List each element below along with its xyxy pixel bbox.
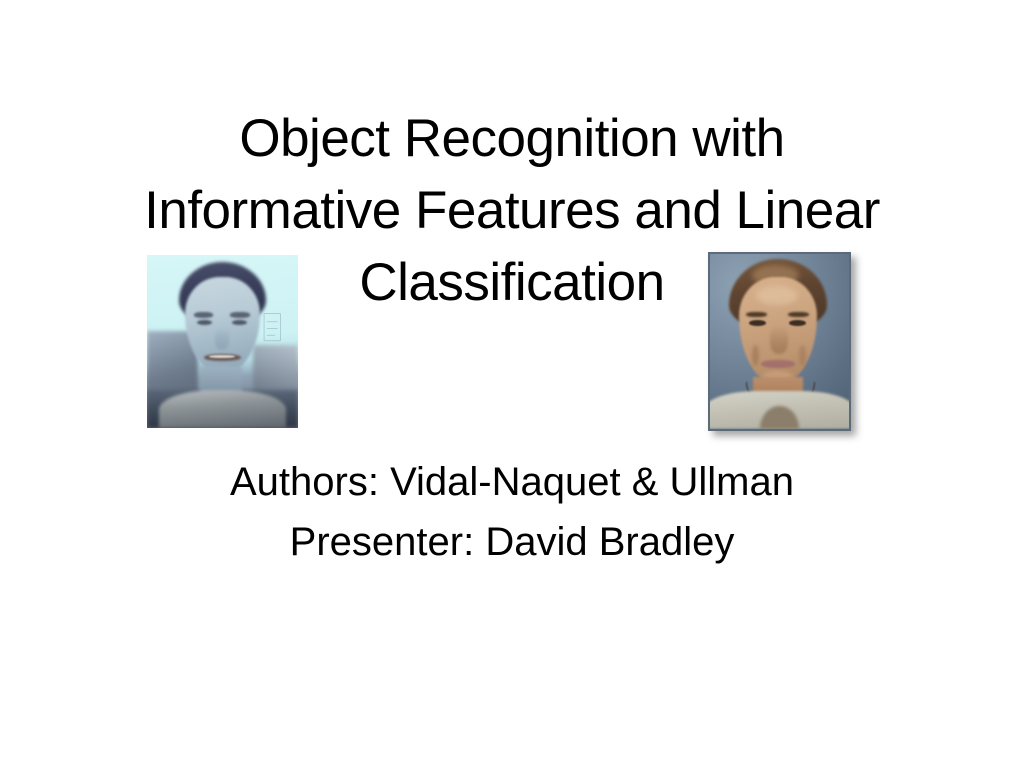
photo-right-forehead-highlight bbox=[756, 286, 798, 305]
photo-left-eyebrow-right bbox=[230, 312, 250, 318]
photo-author-right bbox=[708, 252, 851, 431]
title-slide: Object Recognition with Informative Feat… bbox=[0, 0, 1024, 768]
authors-line: Authors: Vidal-Naquet & Ullman bbox=[62, 452, 962, 512]
photo-right-eyebrow-right bbox=[788, 312, 809, 318]
photo-presenter-left bbox=[147, 255, 298, 428]
photo-left-eye-left bbox=[197, 320, 212, 325]
photo-right-eye-left bbox=[749, 320, 766, 326]
photo-right-nose bbox=[770, 326, 788, 354]
title-line-1: Object Recognition with bbox=[62, 103, 962, 175]
photo-left-eye-right bbox=[232, 320, 247, 325]
photo-right-eye-right bbox=[789, 320, 806, 326]
photo-left-eyebrow-left bbox=[194, 312, 214, 318]
photo-right-mouth bbox=[761, 360, 794, 368]
photo-left-shirt bbox=[159, 390, 286, 428]
photo-right-smile-line-right bbox=[799, 345, 806, 366]
photo-left-wall-sketch bbox=[260, 307, 287, 355]
presenter-line: Presenter: David Bradley bbox=[62, 512, 962, 572]
photo-left-nose bbox=[215, 328, 229, 350]
byline: Authors: Vidal-Naquet & Ullman Presenter… bbox=[62, 452, 962, 572]
title-line-2: Informative Features and Linear bbox=[62, 175, 962, 247]
photo-right-eyebrow-left bbox=[746, 312, 767, 318]
photo-right-smile-line-left bbox=[752, 345, 759, 366]
